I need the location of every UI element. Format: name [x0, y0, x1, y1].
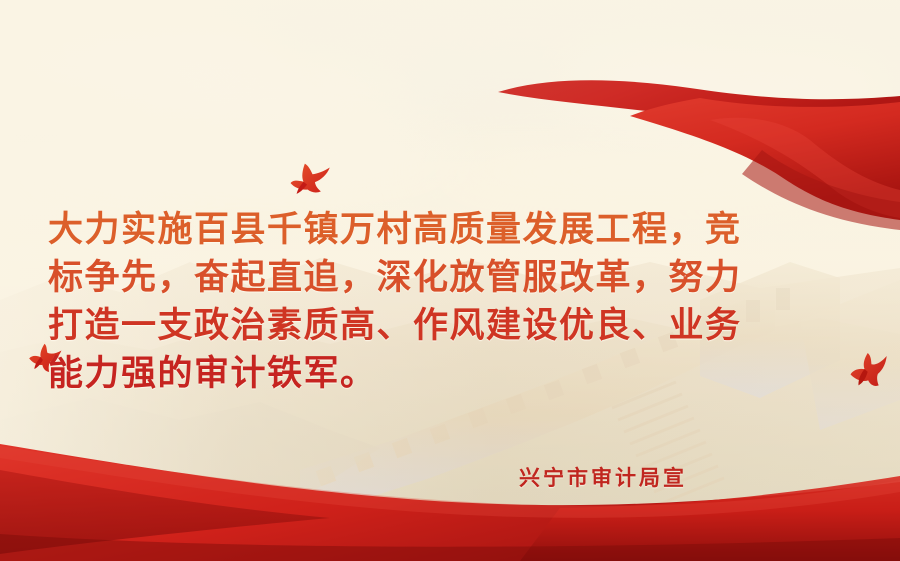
poster-canvas: 大力实施百县千镇万村高质量发展工程，竞 标争先，奋起直追，深化放管服改革，努力 …: [0, 0, 900, 561]
headline-line: 能力强的审计铁军。: [48, 350, 858, 398]
headline-line: 标争先，奋起直追，深化放管服改革，努力: [48, 254, 858, 302]
headline-line: 打造一支政治素质高、作风建设优良、业务: [48, 302, 858, 350]
signature-text: 兴宁市审计局宣: [519, 462, 687, 492]
headline-line: 大力实施百县千镇万村高质量发展工程，竞: [48, 206, 858, 254]
headline-block: 大力实施百县千镇万村高质量发展工程，竞 标争先，奋起直追，深化放管服改革，努力 …: [48, 206, 858, 398]
